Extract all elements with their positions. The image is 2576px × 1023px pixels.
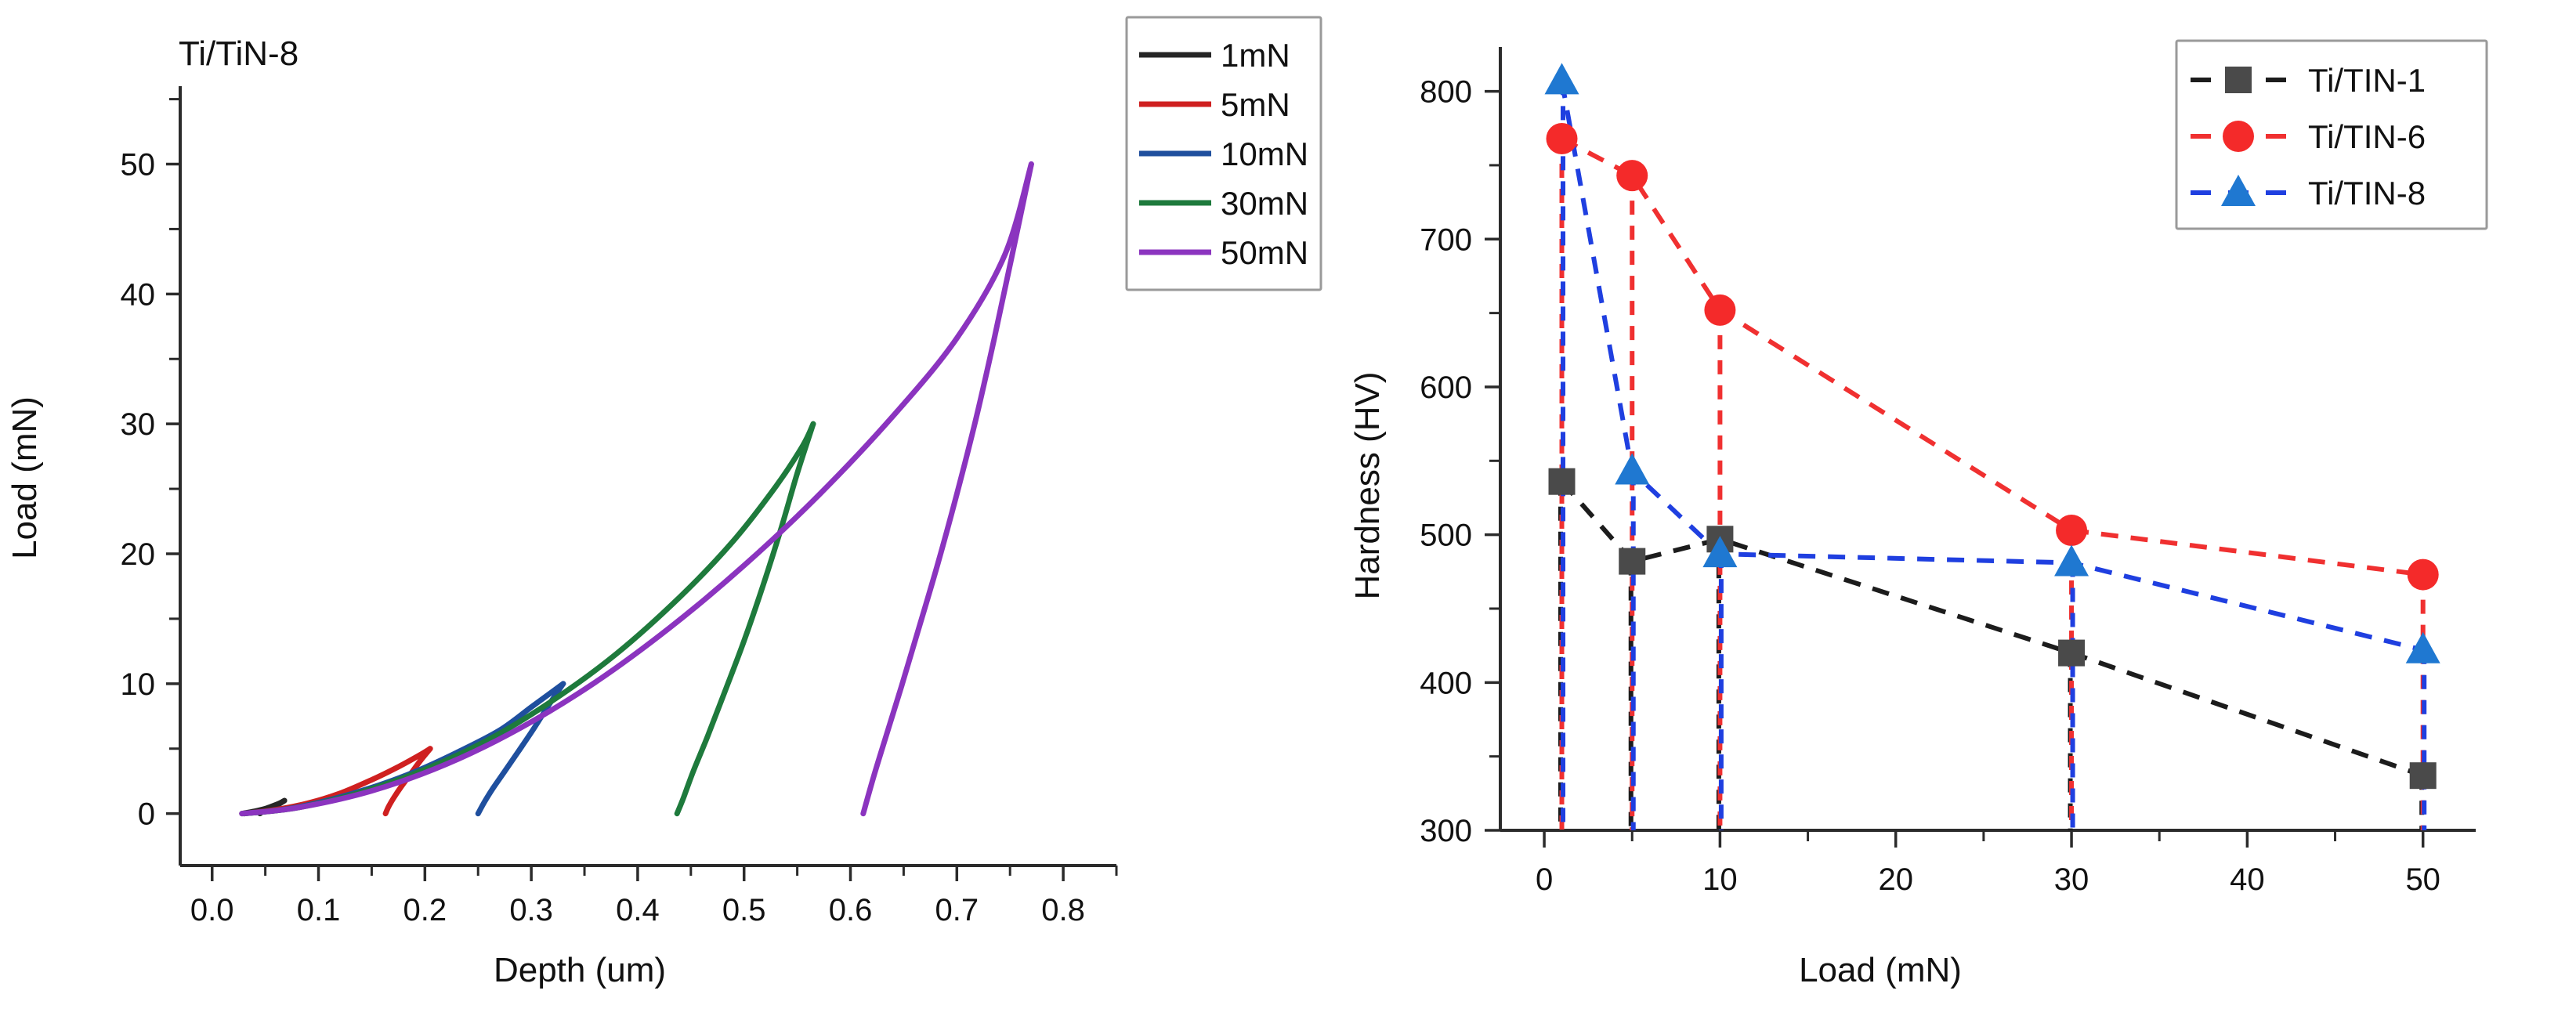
right-y-tick-label: 700: [1420, 222, 1472, 257]
right-x-tick-label: 20: [1878, 862, 1913, 897]
loading-curve-30mN: [244, 424, 813, 813]
marker-square-Ti/TIN-1-30: [2058, 640, 2085, 667]
left-x-tick-label: 0.6: [829, 893, 873, 927]
unloading-curve-30mN: [677, 424, 813, 813]
left-x-tick-label: 0.3: [509, 893, 553, 927]
marker-triangle-Ti/TIN-8-5: [1615, 454, 1649, 485]
marker-square-Ti/TIN-1-5: [1619, 548, 1645, 575]
left-chart-axes: [166, 86, 1116, 881]
right-y-tick-label: 800: [1420, 75, 1472, 110]
marker-circle-Ti/TIN-6-5: [1616, 160, 1648, 191]
left-x-tick-label: 0.5: [722, 893, 766, 927]
left-x-tick-label: 0.1: [297, 893, 341, 927]
left-x-tick-label: 0.2: [403, 893, 447, 927]
left-x-tick-label: 0.7: [935, 893, 979, 927]
left-x-tick-label: 0.4: [616, 893, 660, 927]
right-y-tick-label: 600: [1420, 371, 1472, 405]
marker-triangle-Ti/TIN-8-50: [2406, 632, 2440, 663]
right-x-tick-label: 40: [2230, 862, 2265, 897]
right-x-tick-label: 50: [2405, 862, 2440, 897]
right-y-tick-label: 500: [1420, 519, 1472, 553]
right-y-tick-label: 400: [1420, 666, 1472, 700]
marker-circle-Ti/TIN-6-10: [1704, 295, 1735, 326]
hardness-load-chart: 30040050060070080001020304050 Load (mN) …: [1332, 0, 2576, 1023]
panel-hardness-load: 30040050060070080001020304050 Load (mN) …: [1332, 0, 2576, 1023]
load-depth-chart: 010203040500.00.10.20.30.40.50.60.70.8 T…: [0, 0, 1332, 1023]
left-chart-xlabel: Depth (um): [494, 951, 666, 989]
panel-load-depth: 010203040500.00.10.20.30.40.50.60.70.8 T…: [0, 0, 1332, 1023]
loading-curve-50mN: [242, 164, 1032, 814]
right-chart-ylabel: Hardness (HV): [1348, 372, 1387, 600]
marker-triangle-Ti/TIN-8-1: [1545, 63, 1579, 94]
marker-square-Ti/TIN-1-50: [2410, 762, 2437, 789]
legend-label-Ti/TIN-8: Ti/TIN-8: [2308, 175, 2426, 211]
legend-label-Ti/TIN-6: Ti/TIN-6: [2308, 118, 2426, 155]
left-chart-curves: [242, 164, 1032, 814]
left-x-tick-label: 0.0: [190, 893, 234, 927]
legend-marker-square-Ti/TIN-1: [2225, 67, 2252, 93]
marker-triangle-Ti/TIN-8-30: [2054, 544, 2089, 576]
left-y-tick-label: 0: [138, 797, 155, 832]
right-x-tick-label: 30: [2054, 862, 2089, 897]
loading-curve-10mN: [244, 684, 563, 814]
right-y-tick-label: 300: [1420, 814, 1472, 848]
legend-label-1mN: 1mN: [1221, 37, 1290, 74]
left-y-tick-label: 40: [121, 277, 156, 312]
legend-label-10mN: 10mN: [1221, 136, 1308, 172]
legend-label-Ti/TIN-1: Ti/TIN-1: [2308, 62, 2426, 99]
left-y-tick-label: 50: [121, 148, 156, 183]
left-y-tick-label: 30: [121, 407, 156, 442]
left-x-tick-label: 0.8: [1041, 893, 1085, 927]
figure-container: 010203040500.00.10.20.30.40.50.60.70.8 T…: [0, 0, 2576, 1023]
left-chart-title: Ti/TiN-8: [179, 34, 298, 73]
right-chart-xlabel: Load (mN): [1799, 951, 1962, 989]
unloading-curve-50mN: [863, 164, 1032, 814]
legend-label-30mN: 30mN: [1221, 185, 1308, 222]
left-y-tick-label: 10: [121, 667, 156, 702]
left-chart-legend[interactable]: 1mN5mN10mN30mN50mN: [1127, 17, 1321, 290]
left-chart-ylabel: Load (mN): [5, 396, 44, 559]
right-x-tick-label: 0: [1536, 862, 1553, 897]
marker-circle-Ti/TIN-6-30: [2056, 515, 2087, 546]
right-legend-item-Ti/TIN-1[interactable]: Ti/TIN-1: [2191, 62, 2426, 99]
marker-circle-Ti/TIN-6-50: [2408, 559, 2439, 591]
right-x-tick-label: 10: [1702, 862, 1738, 897]
legend-label-5mN: 5mN: [1221, 86, 1290, 123]
legend-marker-circle-Ti/TIN-6: [2223, 121, 2254, 152]
legend-label-50mN: 50mN: [1221, 234, 1308, 271]
right-chart-legend[interactable]: Ti/TIN-1Ti/TIN-6Ti/TIN-8: [2176, 41, 2487, 229]
marker-circle-Ti/TIN-6-1: [1547, 123, 1578, 154]
marker-square-Ti/TIN-1-1: [1549, 468, 1576, 495]
left-y-tick-label: 20: [121, 537, 156, 572]
